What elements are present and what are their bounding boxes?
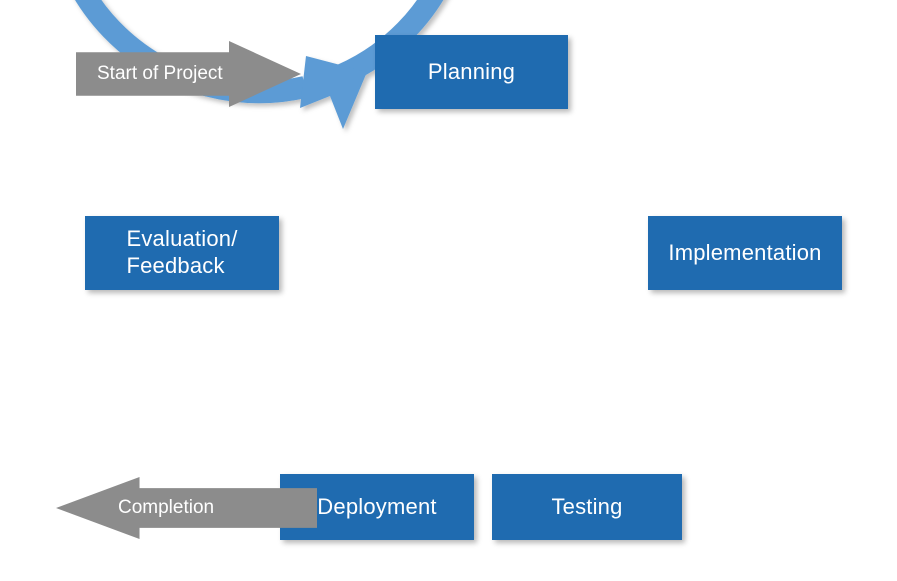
stage-box-testing[interactable]: Testing <box>492 474 682 540</box>
stage-label-evaluation-line-1: Evaluation/ <box>126 226 237 251</box>
stage-label-evaluation: Evaluation/ Feedback <box>118 226 245 280</box>
stage-label-evaluation-line-2: Feedback <box>126 253 224 278</box>
banner-completion-label: Completion <box>118 497 214 519</box>
stage-label-implementation: Implementation <box>660 240 829 267</box>
stage-box-evaluation[interactable]: Evaluation/ Feedback <box>85 216 279 290</box>
stage-box-planning[interactable]: Planning <box>375 35 568 109</box>
stage-label-deployment: Deployment <box>309 494 444 521</box>
banner-start-of-project-label: Start of Project <box>97 63 223 85</box>
diagram-canvas: Start of Project Completion Planning Imp… <box>0 0 897 581</box>
stage-box-implementation[interactable]: Implementation <box>648 216 842 290</box>
stage-label-testing: Testing <box>543 494 630 521</box>
stage-label-planning: Planning <box>420 59 523 86</box>
